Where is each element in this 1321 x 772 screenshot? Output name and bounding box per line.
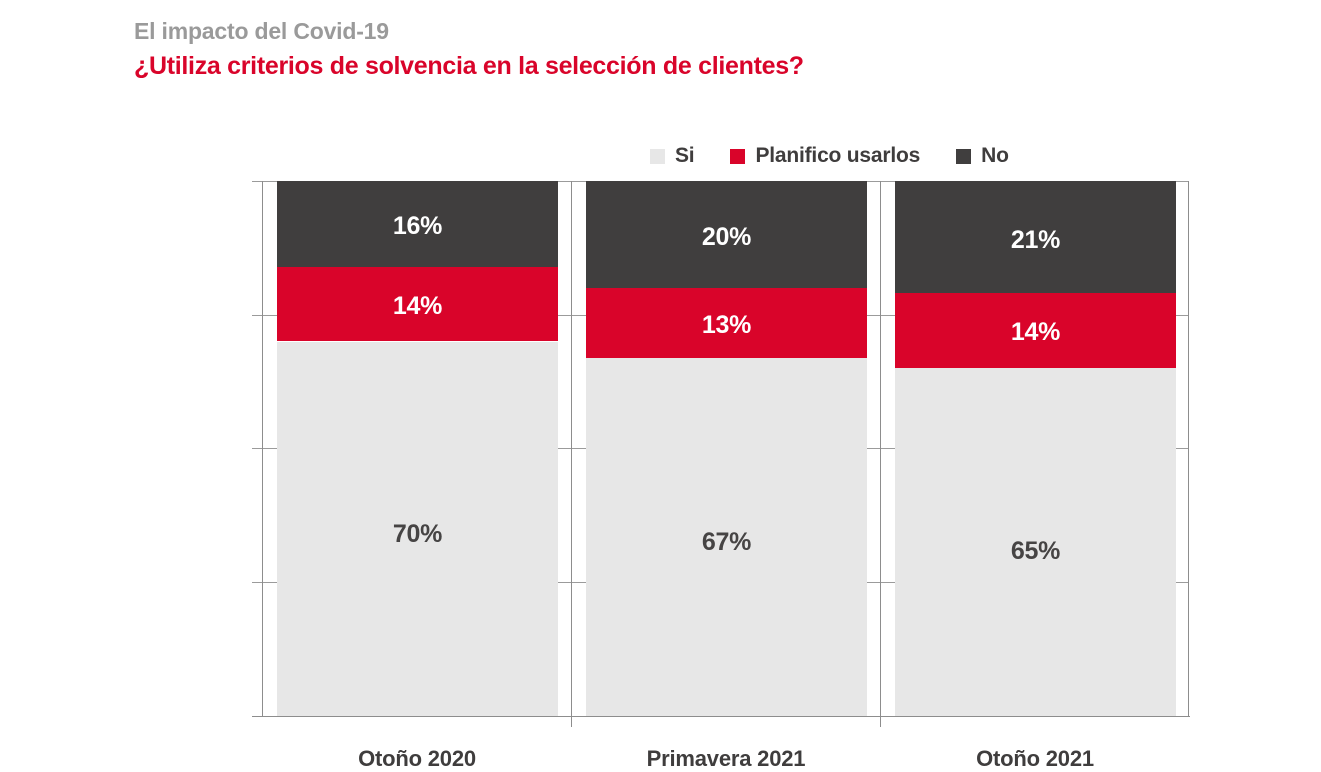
bar-label-planifico-1: 13% bbox=[586, 313, 867, 338]
chart-plot-area: 100% 75% 50% 25% 0% 16% 14% 70% 20% 13% … bbox=[262, 181, 1189, 716]
x-axis-line bbox=[252, 716, 1190, 717]
legend-swatch-planifico bbox=[730, 149, 745, 164]
legend-item-si[interactable]: Si bbox=[650, 143, 694, 169]
bar-segment-no-0[interactable]: 16% bbox=[277, 181, 558, 267]
bar-label-planifico-2: 14% bbox=[895, 320, 1176, 345]
legend-item-no[interactable]: No bbox=[956, 143, 1009, 169]
legend-item-planifico[interactable]: Planifico usarlos bbox=[730, 143, 920, 169]
bar-label-planifico-0: 14% bbox=[277, 294, 558, 319]
category-divider-1 bbox=[571, 181, 572, 727]
legend-label-si: Si bbox=[675, 144, 694, 168]
chart-kicker: El impacto del Covid-19 bbox=[134, 16, 1134, 46]
bar-label-si-1: 67% bbox=[586, 530, 867, 555]
bar-segment-no-1[interactable]: 20% bbox=[586, 181, 867, 288]
bar-segment-planifico-2[interactable]: 14% bbox=[895, 293, 1176, 368]
bar-segment-no-2[interactable]: 21% bbox=[895, 181, 1176, 293]
bar-otono-2020[interactable]: 16% 14% 70% bbox=[277, 181, 558, 716]
bar-label-no-2: 21% bbox=[895, 228, 1176, 253]
bar-label-no-1: 20% bbox=[586, 225, 867, 250]
legend-swatch-si bbox=[650, 149, 665, 164]
bar-otono-2021[interactable]: 21% 14% 65% bbox=[895, 181, 1176, 716]
chart-legend: Si Planifico usarlos No bbox=[650, 143, 1009, 169]
bar-primavera-2021[interactable]: 20% 13% 67% bbox=[586, 181, 867, 716]
bar-label-si-0: 70% bbox=[277, 522, 558, 547]
legend-label-planifico: Planifico usarlos bbox=[755, 144, 920, 168]
bar-label-si-2: 65% bbox=[895, 539, 1176, 564]
category-divider-2 bbox=[880, 181, 881, 727]
x-category-label-2: Otoño 2021 bbox=[885, 746, 1185, 772]
legend-swatch-no bbox=[956, 149, 971, 164]
chart-title: ¿Utiliza criterios de solvencia en la se… bbox=[134, 49, 1134, 83]
bar-segment-si-0[interactable]: 70% bbox=[277, 342, 558, 717]
x-category-label-1: Primavera 2021 bbox=[576, 746, 876, 772]
bar-segment-si-1[interactable]: 67% bbox=[586, 358, 867, 716]
y-axis-line bbox=[262, 181, 263, 716]
chart-header: El impacto del Covid-19 ¿Utiliza criteri… bbox=[134, 16, 1134, 83]
bar-segment-si-2[interactable]: 65% bbox=[895, 368, 1176, 716]
bar-segment-planifico-1[interactable]: 13% bbox=[586, 288, 867, 358]
bar-label-no-0: 16% bbox=[277, 214, 558, 239]
legend-label-no: No bbox=[981, 144, 1009, 168]
bar-segment-planifico-0[interactable]: 14% bbox=[277, 267, 558, 342]
x-category-label-0: Otoño 2020 bbox=[267, 746, 567, 772]
plot-right-border bbox=[1188, 181, 1189, 716]
